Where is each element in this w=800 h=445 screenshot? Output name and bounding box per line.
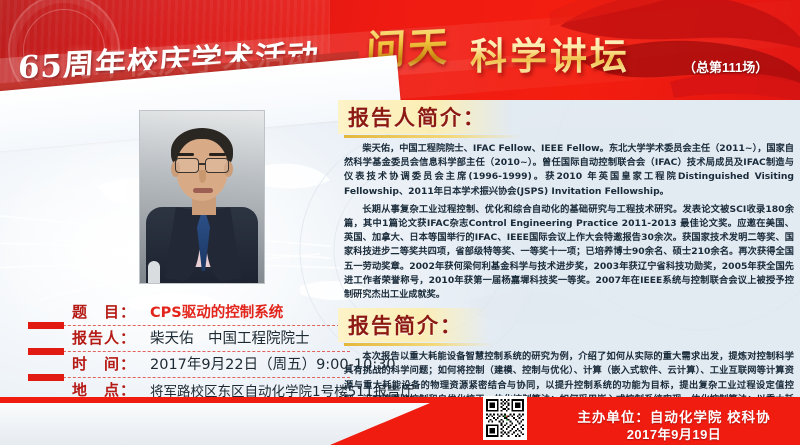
info-row-time: 时 间： 2017年9月22日（周五）9:00-10:30: [28, 352, 350, 378]
heading-underline: [344, 135, 522, 138]
info-row-speaker: 报告人： 柴天佑 中国工程院院士: [28, 326, 350, 352]
content-column: 报告人简介： 柴天佑，中国工程院院士、IFAC Fellow、IEEE Fell…: [338, 100, 800, 400]
info-label-time: 时 间：: [72, 353, 136, 374]
poster-root: 1952 65周年校庆学术活动 问天 科学讲坛 （总第111场）: [0, 0, 800, 445]
heading-underline: [344, 343, 494, 346]
info-label-speaker: 报告人：: [72, 327, 136, 348]
speaker-bio-paragraph-2: 长期从事复杂工业过程控制、优化和综合自动化的基础研究与工程技术研究。发表论文被S…: [344, 203, 794, 302]
speaker-bio-section: 报告人简介： 柴天佑，中国工程院院士、IFAC Fellow、IEEE Fell…: [338, 100, 800, 302]
abstract-heading: 报告简介：: [338, 308, 489, 342]
session-number-label: （总第111场）: [683, 57, 768, 76]
forum-main-title: 科学讲坛: [470, 26, 630, 80]
footer-date-label: 2017年9月19日: [556, 424, 792, 443]
footer-host-label: 主办单位：自动化学院 校科协: [556, 406, 792, 426]
info-value-speaker: 柴天佑 中国工程院院士: [150, 327, 310, 348]
qr-code-icon[interactable]: [483, 396, 527, 440]
qr-code-pattern: [486, 399, 524, 437]
speaker-bio-paragraph-1: 柴天佑，中国工程院院士、IFAC Fellow、IEEE Fellow。东北大学…: [344, 142, 794, 199]
speaker-portrait: [139, 110, 265, 284]
speaker-bio-heading: 报告人简介：: [338, 100, 512, 134]
info-row-topic: 题 目： CPS驱动的控制系统: [28, 300, 350, 326]
info-label-topic: 题 目：: [72, 301, 136, 322]
info-value-topic: CPS驱动的控制系统: [150, 301, 283, 322]
event-info-list: 题 目： CPS驱动的控制系统 报告人： 柴天佑 中国工程院院士 时 间： 20…: [28, 300, 350, 404]
